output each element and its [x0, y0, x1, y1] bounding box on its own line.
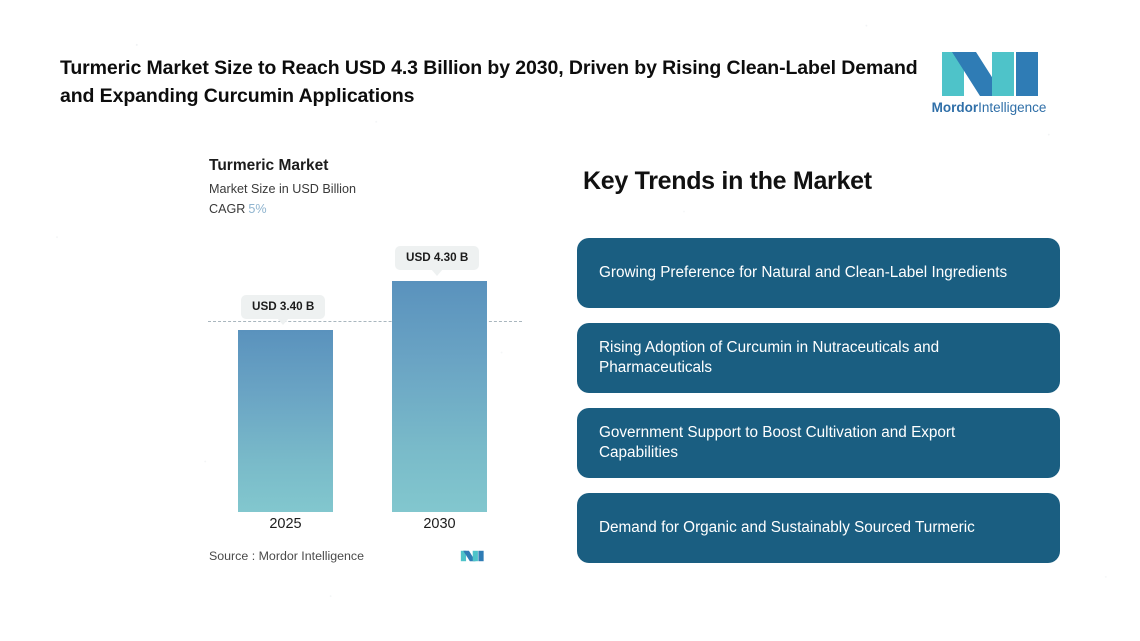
bar-2025[interactable]: [238, 330, 333, 512]
x-axis-label-2030: 2030: [392, 516, 487, 532]
chart-source: Source : Mordor Intelligence: [209, 546, 509, 572]
mordor-logo-mark-small: [458, 546, 486, 566]
trend-card-text: Demand for Organic and Sustainably Sourc…: [599, 518, 975, 538]
trend-card[interactable]: Growing Preference for Natural and Clean…: [577, 238, 1060, 308]
bar-chart-plot: USD 3.40 B USD 4.30 B 2025 2030: [0, 140, 560, 580]
mordor-logo-mark: [930, 48, 1048, 100]
trend-card-text: Growing Preference for Natural and Clean…: [599, 263, 1007, 283]
source-text: Source : Mordor Intelligence: [209, 549, 364, 563]
bar-value-label-2025: USD 3.40 B: [241, 295, 325, 319]
bar-value-label-2030: USD 4.30 B: [395, 246, 479, 270]
trend-card[interactable]: Government Support to Boost Cultivation …: [577, 408, 1060, 478]
chart-panel: Turmeric Market Market Size in USD Billi…: [0, 140, 560, 580]
trend-card[interactable]: Rising Adoption of Curcumin in Nutraceut…: [577, 323, 1060, 393]
source-label: Source :: [209, 549, 255, 563]
logo-word-mordor: Mordor: [932, 100, 979, 115]
x-axis-label-2025: 2025: [238, 516, 333, 532]
trend-card[interactable]: Demand for Organic and Sustainably Sourc…: [577, 493, 1060, 563]
logo-word-intelligence: Intelligence: [978, 100, 1046, 115]
source-name: Mordor Intelligence: [259, 549, 364, 563]
header: Turmeric Market Size to Reach USD 4.3 Bi…: [0, 0, 1140, 130]
mordor-intelligence-logo: MordorIntelligence: [930, 48, 1048, 116]
infographic-page: Turmeric Market Size to Reach USD 4.3 Bi…: [0, 0, 1140, 641]
mordor-logo-wordmark: MordorIntelligence: [930, 100, 1048, 115]
page-title: Turmeric Market Size to Reach USD 4.3 Bi…: [60, 55, 940, 110]
bar-2030[interactable]: [392, 281, 487, 512]
trend-card-text: Rising Adoption of Curcumin in Nutraceut…: [599, 338, 1038, 379]
trend-card-text: Government Support to Boost Cultivation …: [599, 423, 1038, 464]
key-trends-heading: Key Trends in the Market: [583, 167, 872, 196]
